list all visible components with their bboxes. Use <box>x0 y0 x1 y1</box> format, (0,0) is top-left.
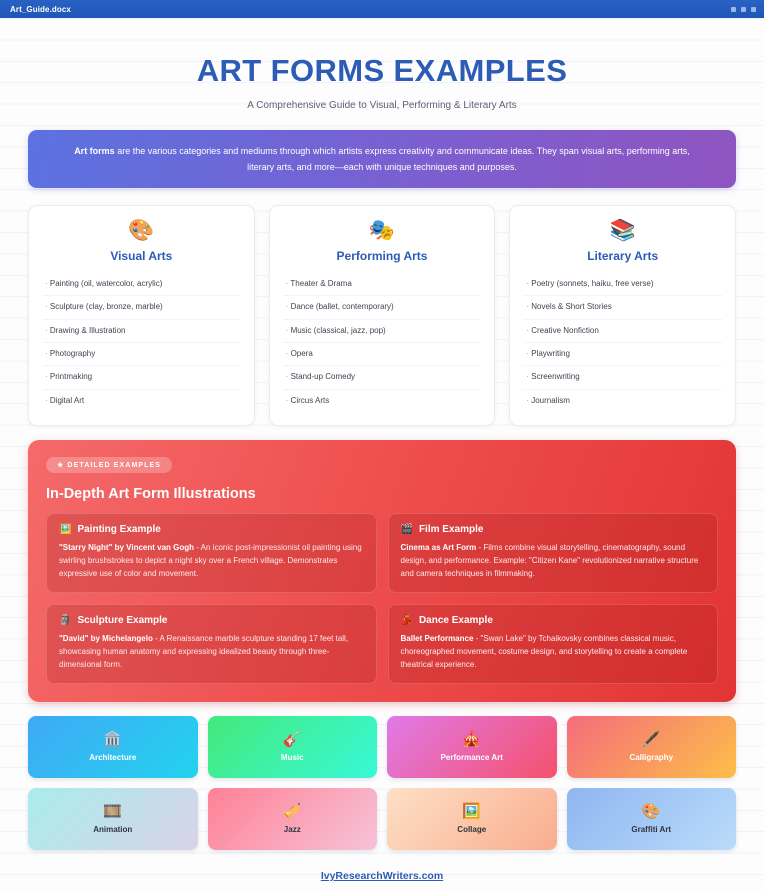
tile-performance-art[interactable]: 🎪 Performance Art <box>387 716 557 778</box>
example-lead: Cinema as Art Form <box>401 543 477 552</box>
example-card-sculpture[interactable]: 🗿 Sculpture Example "David" by Michelang… <box>46 604 377 684</box>
tile-calligraphy[interactable]: 🖋️ Calligraphy <box>567 716 737 778</box>
maximize-icon[interactable] <box>741 7 746 12</box>
list-item: Creative Nonfiction <box>524 320 721 343</box>
tile-label: Animation <box>93 825 132 834</box>
circus-tent-icon: 🎪 <box>462 732 481 747</box>
tile-label: Performance Art <box>441 753 503 762</box>
document-header: ART FORMS EXAMPLES A Comprehensive Guide… <box>0 18 764 111</box>
clapper-board-icon: 🎬 <box>401 524 413 535</box>
tile-jazz[interactable]: 🎺 Jazz <box>208 788 378 850</box>
example-body: Cinema as Art Form - Films combine visua… <box>401 542 706 581</box>
category-card-literary-arts[interactable]: 📚 Literary Arts Poetry (sonnets, haiku, … <box>509 205 736 426</box>
list-item: Stand-up Comedy <box>284 366 481 389</box>
example-body: Ballet Performance - "Swan Lake" by Tcha… <box>401 633 706 672</box>
list-item: Photography <box>43 343 240 366</box>
moai-statue-icon: 🗿 <box>59 615 71 626</box>
example-heading: 🖼️ Painting Example <box>59 524 364 535</box>
example-card-film[interactable]: 🎬 Film Example Cinema as Art Form - Film… <box>388 513 719 593</box>
list-item: Circus Arts <box>284 390 481 412</box>
list-item: Printmaking <box>43 366 240 389</box>
example-title: Painting Example <box>77 524 160 535</box>
detailed-examples-section: ★ DETAILED EXAMPLES In-Depth Art Form Il… <box>0 426 764 702</box>
example-body: "Starry Night" by Vincent van Gogh - An … <box>59 542 364 581</box>
list-item: Sculpture (clay, bronze, marble) <box>43 296 240 319</box>
example-grid: 🖼️ Painting Example "Starry Night" by Vi… <box>46 513 718 684</box>
list-item: Theater & Drama <box>284 273 481 296</box>
status-badge: ★ DETAILED EXAMPLES <box>46 457 172 473</box>
example-lead: "Starry Night" by Vincent van Gogh <box>59 543 194 552</box>
example-title: Sculpture Example <box>77 615 167 626</box>
intro-banner: Art forms are the various categories and… <box>28 130 736 188</box>
window-controls <box>731 7 756 12</box>
tile-label: Calligraphy <box>629 753 673 762</box>
framed-picture-icon: 🖼️ <box>462 804 481 819</box>
example-card-dance[interactable]: 💃 Dance Example Ballet Performance - "Sw… <box>388 604 719 684</box>
tile-collage[interactable]: 🖼️ Collage <box>387 788 557 850</box>
intro-text: are the various categories and mediums t… <box>115 146 690 172</box>
intro-section: Art forms are the various categories and… <box>0 111 764 188</box>
category-title: Visual Arts <box>43 249 240 263</box>
detailed-examples-panel: ★ DETAILED EXAMPLES In-Depth Art Form Il… <box>28 440 736 702</box>
list-item: Screenwriting <box>524 366 721 389</box>
palette-icon: 🎨 <box>642 804 661 819</box>
list-item: Digital Art <box>43 390 240 412</box>
example-lead: Ballet Performance <box>401 634 474 643</box>
page-title: ART FORMS EXAMPLES <box>0 54 764 89</box>
books-icon: 📚 <box>524 219 721 242</box>
minimize-icon[interactable] <box>731 7 736 12</box>
list-item: Poetry (sonnets, haiku, free verse) <box>524 273 721 296</box>
example-title: Film Example <box>419 524 483 535</box>
category-list: Theater & Drama Dance (ballet, contempor… <box>284 273 481 412</box>
tile-label: Collage <box>457 825 486 834</box>
list-item: Playwriting <box>524 343 721 366</box>
example-body: "David" by Michelangelo - A Renaissance … <box>59 633 364 672</box>
tile-graffiti-art[interactable]: 🎨 Graffiti Art <box>567 788 737 850</box>
theater-masks-icon: 🎭 <box>284 219 481 242</box>
guitar-icon: 🎸 <box>283 732 302 747</box>
category-list: Poetry (sonnets, haiku, free verse) Nove… <box>524 273 721 412</box>
trumpet-icon: 🎺 <box>283 804 302 819</box>
list-item: Music (classical, jazz, pop) <box>284 320 481 343</box>
list-item: Novels & Short Stories <box>524 296 721 319</box>
intro-lead: Art forms <box>74 146 115 156</box>
example-heading: 🗿 Sculpture Example <box>59 615 364 626</box>
film-frames-icon: 🎞️ <box>103 804 122 819</box>
tile-label: Architecture <box>89 753 136 762</box>
document-page: ART FORMS EXAMPLES A Comprehensive Guide… <box>0 18 764 890</box>
framed-picture-icon: 🖼️ <box>59 524 71 535</box>
example-heading: 🎬 Film Example <box>401 524 706 535</box>
category-title: Literary Arts <box>524 249 721 263</box>
page-subtitle: A Comprehensive Guide to Visual, Perform… <box>0 100 764 111</box>
category-list: Painting (oil, watercolor, acrylic) Scul… <box>43 273 240 412</box>
category-title: Performing Arts <box>284 249 481 263</box>
window-titlebar: Art_Guide.docx <box>0 0 764 18</box>
example-title: Dance Example <box>419 615 493 626</box>
section-title: In-Depth Art Form Illustrations <box>46 486 718 502</box>
tile-architecture[interactable]: 🏛️ Architecture <box>28 716 198 778</box>
example-lead: "David" by Michelangelo <box>59 634 153 643</box>
list-item: Journalism <box>524 390 721 412</box>
document-filename: Art_Guide.docx <box>10 5 71 14</box>
tile-label: Jazz <box>284 825 301 834</box>
fountain-pen-icon: 🖋️ <box>642 732 661 747</box>
palette-icon: 🎨 <box>43 219 240 242</box>
list-item: Opera <box>284 343 481 366</box>
category-cards: 🎨 Visual Arts Painting (oil, watercolor,… <box>0 188 764 426</box>
classical-building-icon: 🏛️ <box>103 732 122 747</box>
example-heading: 💃 Dance Example <box>401 615 706 626</box>
dancer-icon: 💃 <box>401 615 413 626</box>
close-icon[interactable] <box>751 7 756 12</box>
example-card-painting[interactable]: 🖼️ Painting Example "Starry Night" by Vi… <box>46 513 377 593</box>
tile-animation[interactable]: 🎞️ Animation <box>28 788 198 850</box>
list-item: Drawing & Illustration <box>43 320 240 343</box>
document-footer: IvyResearchWriters.com <box>0 850 764 890</box>
document-window: Art_Guide.docx ART FORMS EXAMPLES A Comp… <box>0 0 764 890</box>
art-form-tiles: 🏛️ Architecture 🎸 Music 🎪 Performance Ar… <box>0 702 764 850</box>
tile-music[interactable]: 🎸 Music <box>208 716 378 778</box>
list-item: Painting (oil, watercolor, acrylic) <box>43 273 240 296</box>
category-card-performing-arts[interactable]: 🎭 Performing Arts Theater & Drama Dance … <box>269 205 496 426</box>
tile-label: Music <box>281 753 304 762</box>
category-card-visual-arts[interactable]: 🎨 Visual Arts Painting (oil, watercolor,… <box>28 205 255 426</box>
list-item: Dance (ballet, contemporary) <box>284 296 481 319</box>
tile-label: Graffiti Art <box>631 825 671 834</box>
footer-link[interactable]: IvyResearchWriters.com <box>321 870 443 882</box>
